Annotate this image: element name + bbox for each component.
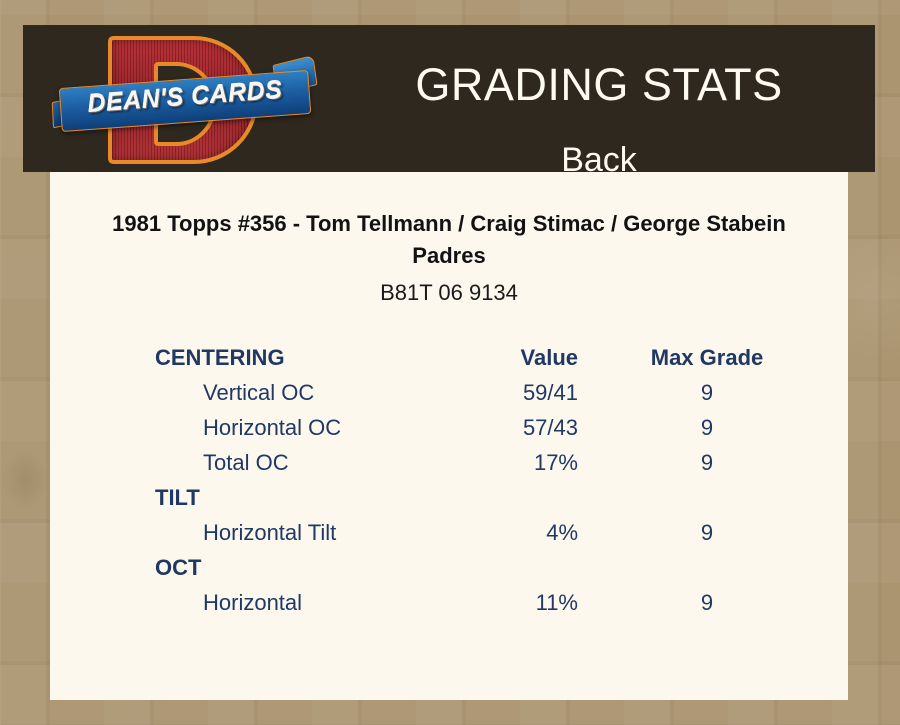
stat-value: 4% bbox=[380, 520, 578, 546]
stat-max-grade: 9 bbox=[618, 450, 796, 476]
stat-max-grade: 9 bbox=[618, 590, 796, 616]
logo-ribbon-banner: DEAN'S CARDS bbox=[52, 76, 316, 126]
page-subtitle: Back bbox=[323, 143, 875, 179]
stat-value: 17% bbox=[380, 450, 578, 476]
column-header-max-grade: Max Grade bbox=[618, 345, 796, 371]
grading-stats-table: CENTERINGValueMax GradeVertical OC59/419… bbox=[50, 345, 848, 625]
stat-value: 11% bbox=[380, 590, 578, 616]
table-row: CENTERINGValueMax Grade bbox=[50, 345, 848, 380]
page-title: GRADING STATS bbox=[323, 61, 875, 108]
column-header-value: Value bbox=[380, 345, 578, 371]
stat-value: 59/41 bbox=[380, 380, 578, 406]
stat-label: Horizontal Tilt bbox=[203, 520, 336, 546]
section-header-label: CENTERING bbox=[155, 345, 285, 371]
card-description: 1981 Topps #356 - Tom Tellmann / Craig S… bbox=[90, 208, 808, 272]
stat-label: Horizontal bbox=[203, 590, 302, 616]
stat-value: 57/43 bbox=[380, 415, 578, 441]
stat-label: Total OC bbox=[203, 450, 289, 476]
table-row: OCT bbox=[50, 555, 848, 590]
stat-max-grade: 9 bbox=[618, 380, 796, 406]
table-row: Total OC17%9 bbox=[50, 450, 848, 485]
header-bar: DEAN'S CARDS GRADING STATS Back bbox=[23, 25, 875, 172]
table-row: Horizontal Tilt4%9 bbox=[50, 520, 848, 555]
grading-stats-page: DEAN'S CARDS GRADING STATS Back 1981 Top… bbox=[0, 0, 900, 725]
table-row: TILT bbox=[50, 485, 848, 520]
table-row: Horizontal11%9 bbox=[50, 590, 848, 625]
content-panel: 1981 Topps #356 - Tom Tellmann / Craig S… bbox=[50, 172, 848, 700]
stat-max-grade: 9 bbox=[618, 415, 796, 441]
section-header-label: TILT bbox=[155, 485, 200, 511]
stat-label: Horizontal OC bbox=[203, 415, 341, 441]
stat-label: Vertical OC bbox=[203, 380, 314, 406]
card-inventory-code: B81T 06 9134 bbox=[90, 280, 808, 306]
stat-max-grade: 9 bbox=[618, 520, 796, 546]
section-header-label: OCT bbox=[155, 555, 201, 581]
deans-cards-logo: DEAN'S CARDS bbox=[50, 28, 318, 172]
table-row: Horizontal OC57/439 bbox=[50, 415, 848, 450]
table-row: Vertical OC59/419 bbox=[50, 380, 848, 415]
